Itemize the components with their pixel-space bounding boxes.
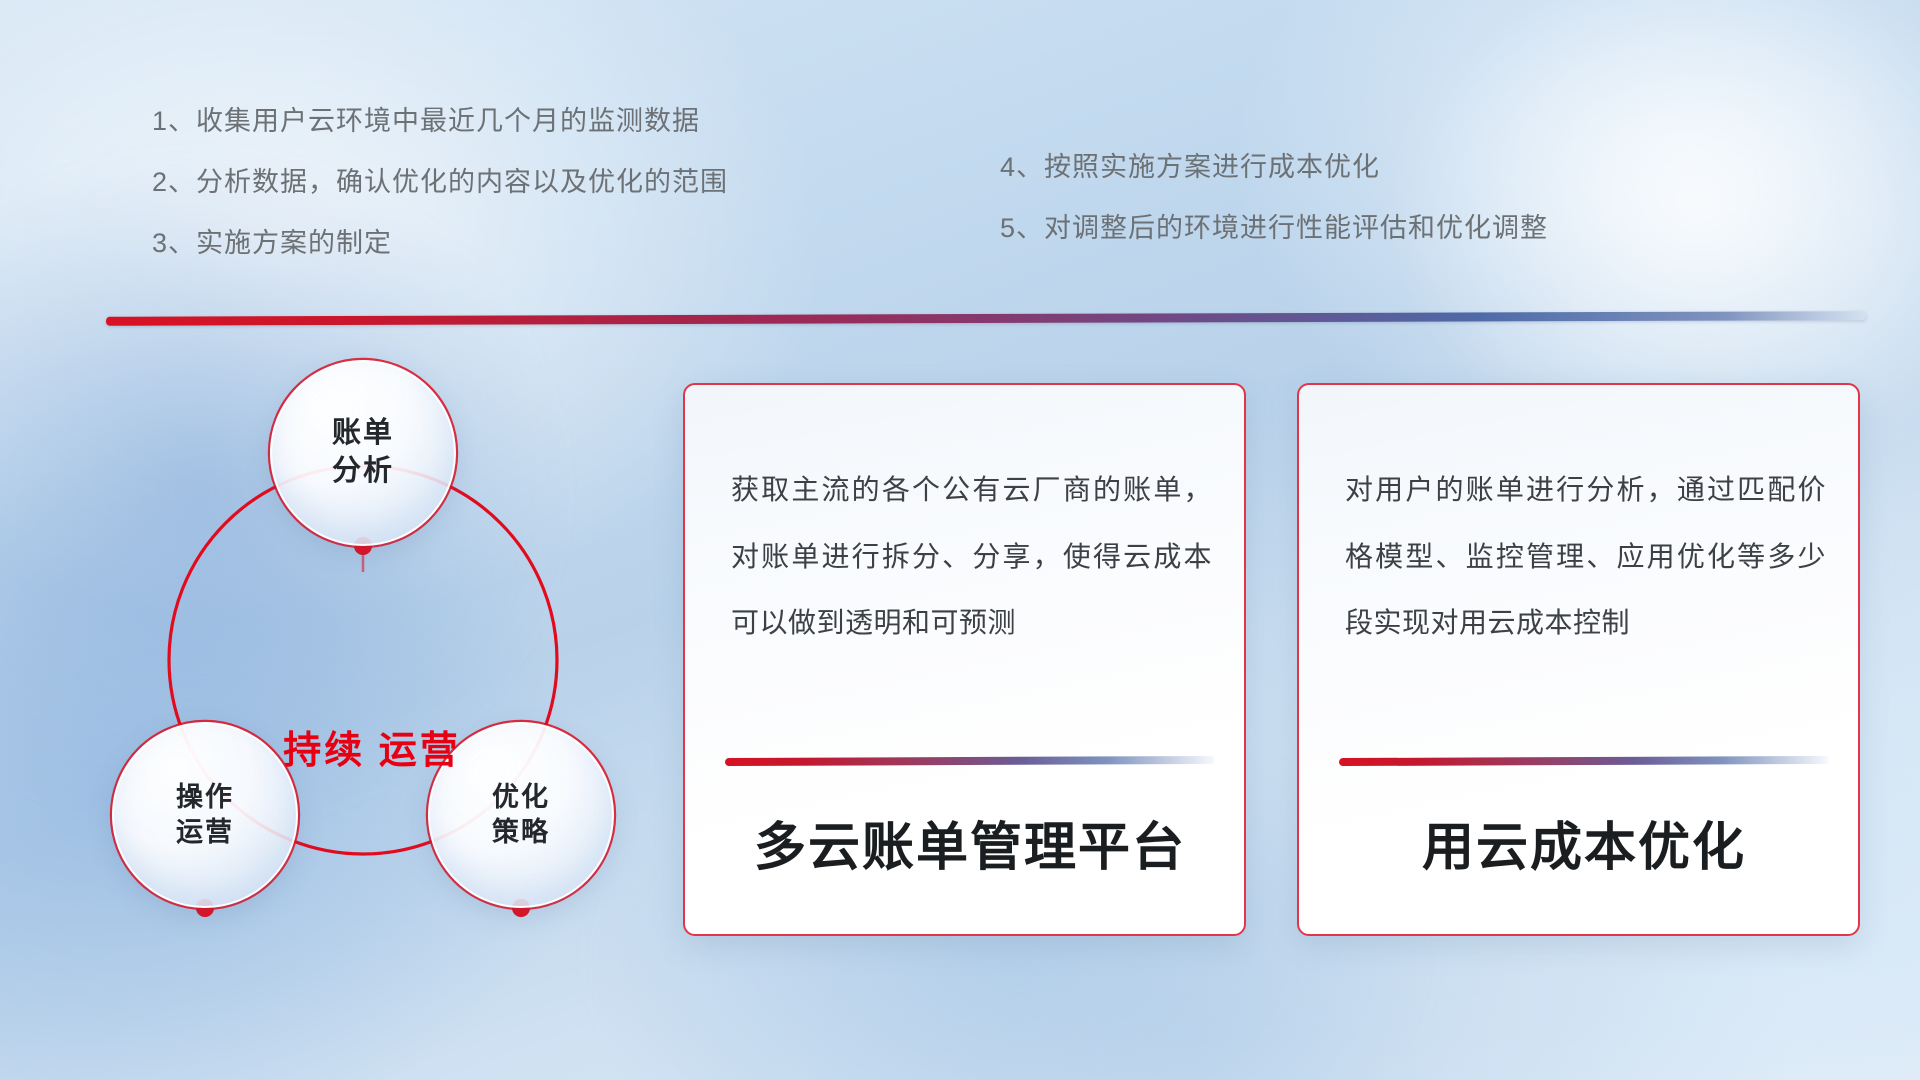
- venn-bubble-bill-analysis-line1: 账单: [332, 415, 394, 453]
- card-cloud-cost-optimization[interactable]: 对用户的账单进行分析，通过匹配价格模型、监控管理、应用优化等多少段实现对用云成本…: [1297, 383, 1860, 936]
- continuous-operations-venn-diagram: 账单 分析 操作 运营 优化 策略 持续 运营: [92, 350, 652, 970]
- card-multi-cloud-billing-platform-rule: [725, 756, 1215, 766]
- process-steps-left-column: 1、收集用户云环境中最近几个月的监测数据 2、分析数据，确认优化的内容以及优化的…: [152, 108, 728, 291]
- venn-bubble-operations[interactable]: 操作 运营: [112, 722, 298, 908]
- venn-center-label: 持续 运营: [277, 728, 467, 775]
- card-cloud-cost-optimization-body: 对用户的账单进行分析，通过匹配价格模型、监控管理、应用优化等多少段实现对用云成本…: [1345, 457, 1826, 657]
- card-multi-cloud-billing-platform[interactable]: 获取主流的各个公有云厂商的账单，对账单进行拆分、分享，使得云成本可以做到透明和可…: [683, 383, 1246, 936]
- venn-center-label-line2: 运营: [379, 730, 461, 772]
- card-multi-cloud-billing-platform-body: 获取主流的各个公有云厂商的账单，对账单进行拆分、分享，使得云成本可以做到透明和可…: [731, 457, 1212, 657]
- card-cloud-cost-optimization-title: 用云成本优化: [1339, 805, 1829, 880]
- process-step-5: 5、对调整后的环境进行性能评估和优化调整: [1000, 215, 1548, 242]
- process-step-3: 3、实施方案的制定: [152, 230, 728, 257]
- process-steps: 1、收集用户云环境中最近几个月的监测数据 2、分析数据，确认优化的内容以及优化的…: [0, 108, 1920, 308]
- process-steps-right-column: 4、按照实施方案进行成本优化 5、对调整后的环境进行性能评估和优化调整: [1000, 154, 1548, 276]
- venn-bubble-optimization-strategy-line1: 优化: [492, 780, 550, 815]
- venn-bubble-operations-line1: 操作: [176, 780, 234, 815]
- venn-bubble-optimization-strategy-line2: 策略: [492, 815, 550, 850]
- venn-center-label-line1: 持续: [283, 730, 365, 772]
- venn-bubble-bill-analysis-line2: 分析: [332, 453, 394, 491]
- card-cloud-cost-optimization-rule: [1339, 756, 1829, 766]
- venn-bubble-operations-line2: 运营: [176, 815, 234, 850]
- process-step-4: 4、按照实施方案进行成本优化: [1000, 154, 1548, 181]
- process-step-1: 1、收集用户云环境中最近几个月的监测数据: [152, 108, 728, 135]
- venn-bubble-bill-analysis[interactable]: 账单 分析: [270, 360, 456, 546]
- card-multi-cloud-billing-platform-title: 多云账单管理平台: [725, 805, 1215, 880]
- process-step-2: 2、分析数据，确认优化的内容以及优化的范围: [152, 169, 728, 196]
